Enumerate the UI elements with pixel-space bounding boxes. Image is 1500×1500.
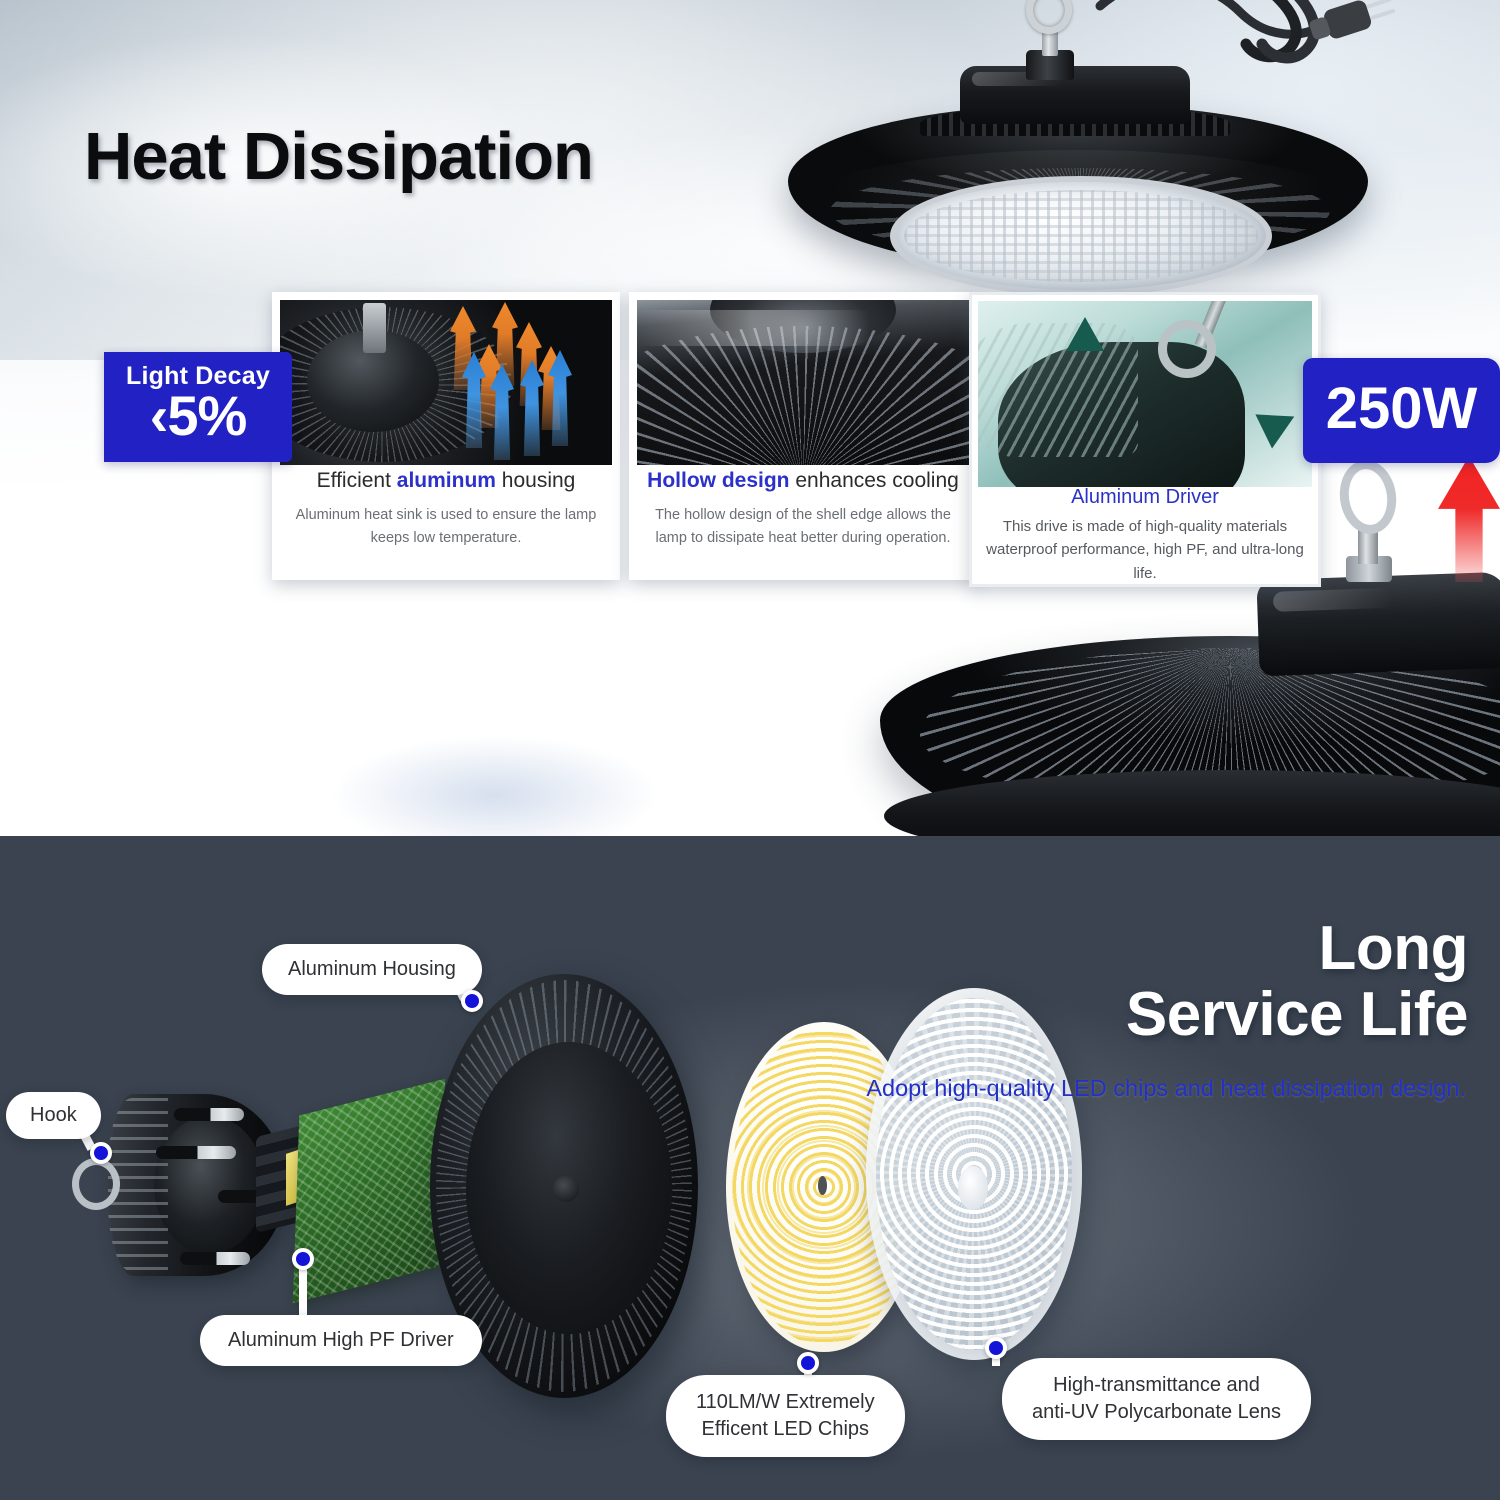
callout-leader-line	[299, 1262, 307, 1320]
aluminum-housing-center-dot	[553, 1176, 579, 1202]
card-title-highlight: Hollow design	[647, 469, 789, 492]
card-title-pre: Efficient	[317, 469, 397, 492]
card-image-driver	[978, 301, 1312, 487]
background-blue-smudge	[330, 735, 660, 836]
callout-dot-icon	[797, 1352, 819, 1374]
lamp-lens	[890, 176, 1272, 296]
connector-pin	[156, 1146, 236, 1159]
connector-pin	[174, 1108, 244, 1121]
feature-card-aluminum-housing: Efficient aluminum housing Aluminum heat…	[272, 292, 620, 580]
card-body: The hollow design of the shell edge allo…	[629, 504, 977, 549]
callout-dot-icon	[985, 1337, 1007, 1359]
card-title-post: enhances cooling	[790, 469, 959, 492]
card-body: Aluminum heat sink is used to ensure the…	[272, 504, 620, 549]
card-image-fins-closeup	[637, 300, 969, 465]
callout-aluminum-housing: Aluminum Housing	[262, 944, 482, 995]
card-caption: Efficient aluminum housing Aluminum heat…	[272, 468, 620, 549]
fins-highlight	[637, 310, 969, 346]
card-title: Aluminum Driver	[972, 485, 1318, 509]
driver-artwork	[978, 301, 1312, 487]
light-decay-value: ‹5%	[104, 388, 292, 444]
heat-dissipation-section: Heat Dissipation Light Decay ‹5% 250W	[0, 0, 1500, 836]
card-title: Efficient aluminum housing	[272, 468, 620, 493]
hook-ring-icon	[1026, 0, 1072, 34]
section-title: Long Service Life	[1126, 916, 1468, 1049]
product-infographic: Heat Dissipation Light Decay ‹5% 250W	[0, 0, 1500, 1500]
section-title-line2: Service Life	[1126, 980, 1468, 1049]
hook-component	[72, 1158, 120, 1210]
card-title-post: housing	[496, 469, 575, 492]
led-board-center	[818, 1176, 827, 1195]
wattage-badge: 250W	[1303, 358, 1500, 463]
feature-card-aluminum-driver: Aluminum Driver This drive is made of hi…	[969, 292, 1321, 587]
heatsink-artwork	[280, 300, 612, 465]
hook-ring-icon	[1158, 320, 1216, 378]
callout-hook: Hook	[6, 1092, 101, 1139]
card-title-highlight: Aluminum Driver	[1071, 486, 1219, 508]
heat-arrow-up-icon	[1438, 456, 1500, 582]
driver-fins	[978, 323, 1138, 457]
light-decay-badge: Light Decay ‹5%	[104, 352, 292, 462]
lamp-driver-housing	[960, 66, 1190, 124]
callout-led-chips: 110LM/W Extremely Efficent LED Chips	[666, 1375, 905, 1457]
callout-aluminum-high-pf-driver: Aluminum High PF Driver	[200, 1315, 482, 1366]
pcb-driver-board	[293, 1079, 445, 1303]
hook-ring-icon	[1335, 456, 1401, 537]
callout-dot-icon	[90, 1142, 112, 1164]
connector-pin	[180, 1252, 250, 1265]
airflow-arrow-up-icon	[1066, 317, 1104, 351]
card-image-heatsink-airflow	[280, 300, 612, 465]
section-title-line1: Long	[1319, 914, 1469, 983]
section-subtitle: Adopt high-quality LED chips and heat di…	[866, 1072, 1466, 1105]
heatsink-pin	[363, 303, 386, 353]
card-caption: Aluminum Driver This drive is made of hi…	[972, 485, 1318, 585]
feature-card-row: Efficient aluminum housing Aluminum heat…	[272, 292, 1327, 582]
wattage-value: 250W	[1303, 380, 1500, 438]
airflow-arrow-right-icon	[1255, 399, 1302, 448]
card-caption: Hollow design enhances cooling The hollo…	[629, 468, 977, 549]
big-lamp-driver-housing	[1256, 572, 1500, 677]
card-title-highlight: aluminum	[397, 469, 496, 492]
callout-polycarbonate-lens: High-transmittance and anti-UV Polycarbo…	[1002, 1358, 1311, 1440]
card-title: Hollow design enhances cooling	[629, 468, 977, 493]
callout-dot-icon	[292, 1248, 314, 1270]
fins-pattern	[637, 326, 969, 465]
page-title: Heat Dissipation	[84, 118, 593, 195]
lens-center-boss	[958, 1166, 988, 1210]
fins-artwork	[637, 300, 969, 465]
feature-card-hollow-design: Hollow design enhances cooling The hollo…	[629, 292, 977, 580]
callout-dot-icon	[461, 990, 483, 1012]
hanging-high-bay-light-photo	[770, 0, 1410, 286]
card-body: This drive is made of high-quality mater…	[972, 515, 1318, 585]
